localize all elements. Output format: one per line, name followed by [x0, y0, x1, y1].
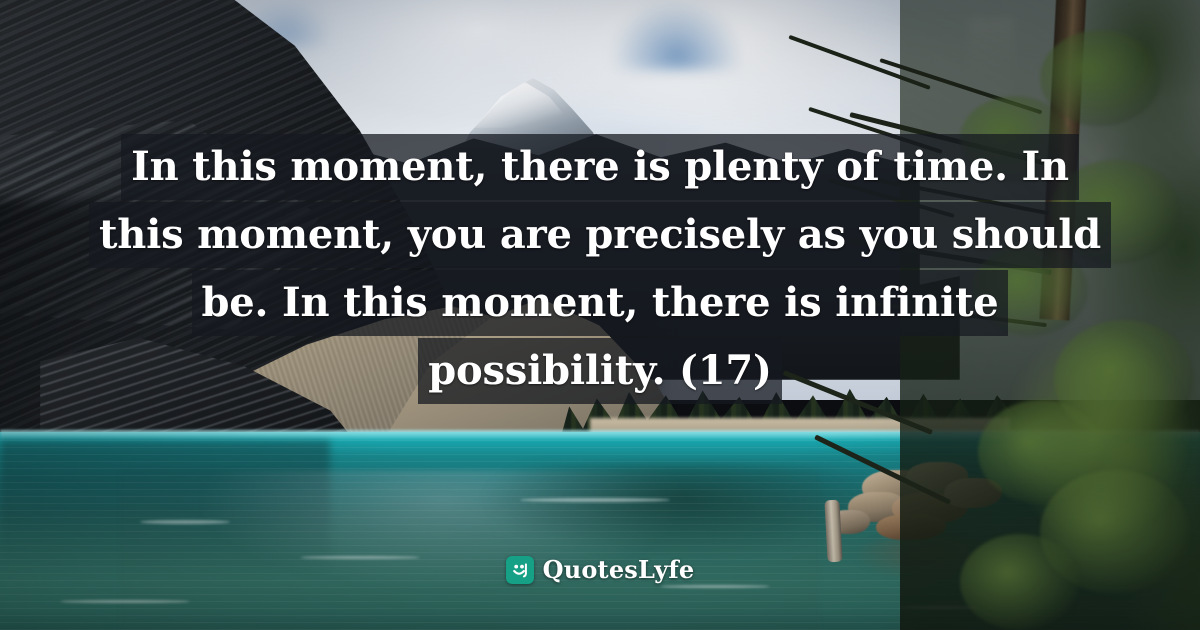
watermark[interactable]: QuotesLyfe [0, 556, 1200, 584]
quote-smiley-icon [506, 556, 534, 584]
brand-name: QuotesLyfe [543, 556, 695, 584]
quote-line-1: In this moment, there is plenty of time.… [121, 134, 1079, 200]
water-glint [60, 600, 190, 603]
sky-blue-patch [612, 0, 742, 70]
quote-line-3: be. In this moment, there is infinite [192, 270, 1009, 336]
driftwood-log [824, 500, 842, 563]
quote-text-block: In this moment, there is plenty of time.… [0, 134, 1200, 404]
water-glint [140, 520, 230, 524]
quote-line-2: this moment, you are precisely as you sh… [89, 202, 1111, 268]
quote-line-4: possibility. (17) [418, 338, 782, 404]
water-glint [660, 585, 770, 588]
quote-card: In this moment, there is plenty of time.… [0, 0, 1200, 630]
water-glint [520, 498, 670, 502]
